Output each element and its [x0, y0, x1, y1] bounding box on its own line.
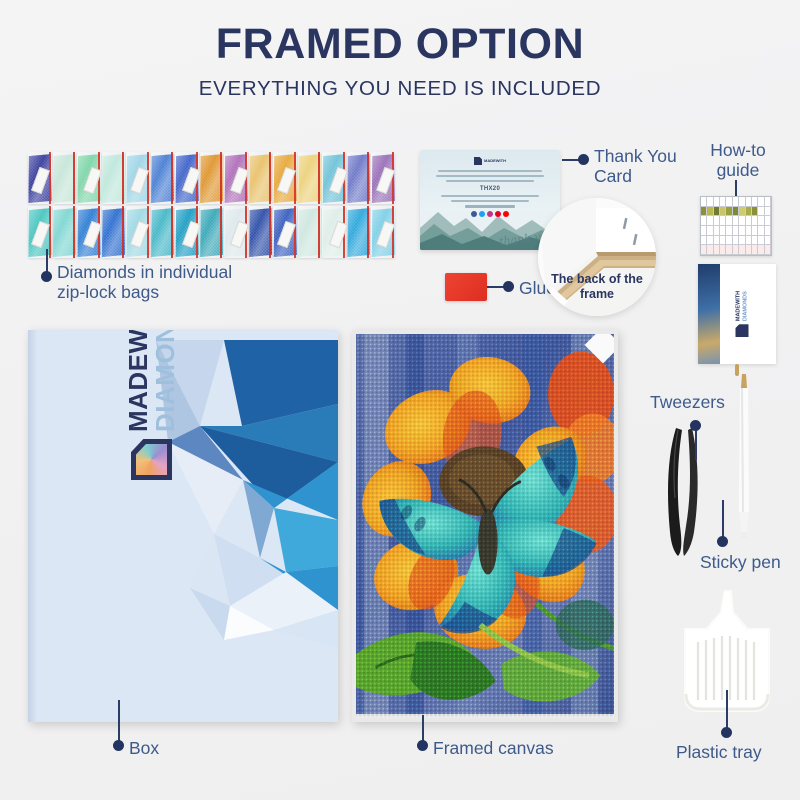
- callout-label-diamonds: Diamonds in individual zip-lock bags: [57, 262, 232, 303]
- leader-line-sticky-pen: [722, 500, 724, 540]
- chart-cell: [765, 236, 771, 246]
- leader-line-plastic-tray: [726, 690, 728, 730]
- bubble-caption: The back of the frame: [538, 272, 656, 303]
- how-to-guide: MADEWITH DIAMONDS: [698, 196, 778, 376]
- bag-zip-seal: [318, 152, 320, 204]
- callout-label-box: Box: [129, 738, 159, 758]
- leader-line-framed-canvas: [422, 715, 424, 742]
- leader-dot-plastic-tray: [721, 727, 732, 738]
- social-icon: [471, 211, 477, 217]
- diamond-bag: [126, 206, 150, 258]
- bag-zip-seal: [220, 206, 222, 258]
- diamond-bag: [371, 152, 395, 204]
- diamond-bag: [102, 206, 126, 258]
- bag-zip-seal: [294, 206, 296, 258]
- box-geometric-pattern: [28, 330, 338, 722]
- diamond-bag: [200, 206, 224, 258]
- bag-zip-seal: [367, 206, 369, 258]
- leader-dot-box: [113, 740, 124, 751]
- diamond-bag: [273, 206, 297, 258]
- brand-mark-icon: [735, 324, 748, 337]
- diamond-dot-texture-shadow: [356, 334, 614, 718]
- box-brand-logo: MADEWITH DIAMONDS: [125, 330, 178, 480]
- bag-zip-seal: [122, 152, 124, 204]
- social-icon: [503, 211, 509, 217]
- leader-line-box: [118, 700, 120, 742]
- bag-zip-seal: [220, 152, 222, 204]
- diamond-bag: [102, 152, 126, 204]
- diamond-bag: [126, 152, 150, 204]
- card-logo: MADEWITH: [474, 157, 506, 165]
- card-body-text: THX20: [434, 170, 546, 217]
- diamond-bag: [347, 206, 371, 258]
- diamond-bags-row-top: [28, 152, 396, 204]
- guide-booklet: MADEWITH DIAMONDS: [698, 264, 776, 364]
- bag-zip-seal: [147, 152, 149, 204]
- guide-logo-text: MADEWITH DIAMONDS: [735, 291, 748, 321]
- diamond-bag: [273, 152, 297, 204]
- diamond-bag: [322, 152, 346, 204]
- callout-label-tweezers: Tweezers: [650, 392, 725, 412]
- leader-dot-thank-you: [578, 154, 589, 165]
- framed-canvas: [352, 330, 618, 722]
- header-block: FRAMED OPTION EVERYTHING YOU NEED IS INC…: [0, 22, 800, 101]
- glue-bottle: [445, 273, 487, 301]
- diamond-bag: [371, 206, 395, 258]
- bag-zip-seal: [318, 206, 320, 258]
- diamond-bags-row-bottom: [28, 206, 396, 258]
- bag-zip-seal: [122, 206, 124, 258]
- guide-logo: MADEWITH DIAMONDS: [735, 291, 748, 337]
- diamond-bag: [53, 206, 77, 258]
- leader-dot-glue: [503, 281, 514, 292]
- social-icon: [487, 211, 493, 217]
- bag-zip-seal: [269, 206, 271, 258]
- bag-zip-seal: [392, 206, 394, 258]
- diamond-bag: [249, 206, 273, 258]
- sticky-pen-tool: [730, 372, 758, 540]
- bag-zip-seal: [269, 152, 271, 204]
- diamond-bag: [151, 152, 175, 204]
- diamond-bag: [224, 152, 248, 204]
- social-icon: [495, 211, 501, 217]
- diamond-bag: [298, 152, 322, 204]
- frame-detail-bubble: The back of the frame: [538, 198, 656, 316]
- diamond-bag: [151, 206, 175, 258]
- leader-dot-framed-canvas: [417, 740, 428, 751]
- chart-cell: [765, 245, 771, 255]
- card-social-handle: [465, 205, 514, 208]
- bag-zip-seal: [171, 206, 173, 258]
- callout-label-how-to: How-to guide: [700, 140, 776, 181]
- box-spine: [28, 330, 37, 722]
- chart-cell: [765, 207, 771, 217]
- box-brand-text: MADEWITH DIAMONDS: [125, 330, 178, 432]
- diamond-bag: [298, 206, 322, 258]
- diamond-bag: [53, 152, 77, 204]
- bag-zip-seal: [73, 152, 75, 204]
- diamond-bag: [347, 152, 371, 204]
- diamond-bag: [175, 206, 199, 258]
- leader-dot-sticky-pen: [717, 536, 728, 547]
- color-chart-table: [700, 196, 772, 256]
- diamond-bag: [175, 152, 199, 204]
- promo-code: THX20: [434, 186, 546, 192]
- chart-cell: [765, 197, 771, 207]
- card-logo-text: MADEWITH: [484, 159, 506, 163]
- bag-zip-seal: [49, 206, 51, 258]
- canvas-artwork: [356, 334, 614, 718]
- social-icon: [479, 211, 485, 217]
- diamond-bag: [249, 152, 273, 204]
- diamond-bag: [77, 152, 101, 204]
- callout-label-framed-canvas: Framed canvas: [433, 738, 554, 758]
- product-box: MADEWITH DIAMONDS: [28, 330, 338, 722]
- callout-label-plastic-tray: Plastic tray: [676, 742, 762, 762]
- tweezers-tool: [658, 420, 706, 560]
- page-subtitle: EVERYTHING YOU NEED IS INCLUDED: [0, 77, 800, 101]
- bag-zip-seal: [73, 206, 75, 258]
- leader-line-tweezers: [695, 428, 697, 460]
- diamond-bag: [322, 206, 346, 258]
- diamond-bag: [28, 152, 52, 204]
- bag-zip-seal: [294, 152, 296, 204]
- leader-dot-diamonds: [41, 271, 52, 282]
- diamond-bag: [28, 206, 52, 258]
- infographic-canvas: FRAMED OPTION EVERYTHING YOU NEED IS INC…: [0, 0, 800, 800]
- guide-photo: [698, 264, 720, 364]
- brand-mark-icon: [131, 439, 172, 480]
- leader-dot-tweezers: [690, 420, 701, 431]
- bag-zip-seal: [147, 206, 149, 258]
- chart-cell: [765, 216, 771, 226]
- chart-cell: [765, 226, 771, 236]
- callout-label-thank-you: Thank You Card: [594, 146, 677, 187]
- brand-mark-icon: [474, 157, 482, 165]
- diamond-bag: [77, 206, 101, 258]
- diamond-bag: [200, 152, 224, 204]
- bag-zip-seal: [392, 152, 394, 204]
- page-title: FRAMED OPTION: [0, 22, 800, 67]
- card-social-icons: [434, 211, 546, 217]
- bag-zip-seal: [367, 152, 369, 204]
- diamond-bag: [224, 206, 248, 258]
- bag-zip-seal: [171, 152, 173, 204]
- callout-label-sticky-pen: Sticky pen: [700, 552, 781, 572]
- bag-zip-seal: [49, 152, 51, 204]
